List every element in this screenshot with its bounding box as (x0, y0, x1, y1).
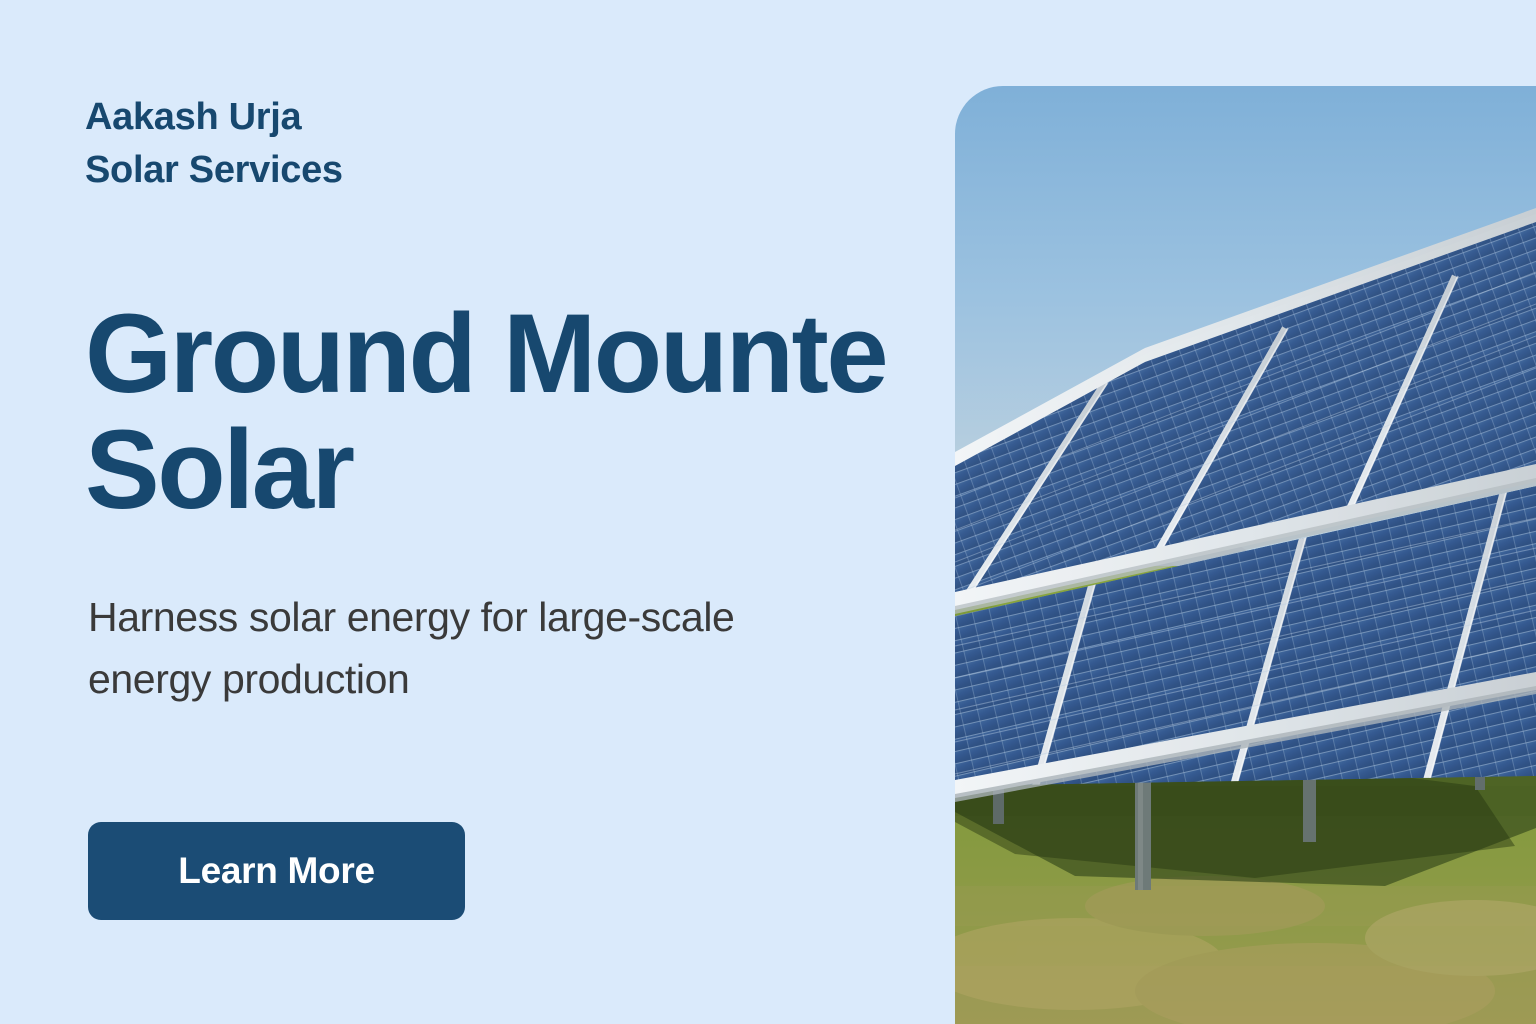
brand-line-2: Solar Services (85, 144, 343, 197)
subtitle-line-1: Harness solar energy for large-scale (88, 586, 888, 648)
solar-farm-illustration (955, 86, 1536, 1024)
subtitle: Harness solar energy for large-scale ene… (88, 586, 888, 710)
brand-name: Aakash Urja Solar Services (85, 91, 343, 197)
subtitle-line-2: energy production (88, 648, 888, 710)
solar-panel-photo (955, 86, 1536, 1024)
page-title: Ground Mounte Solar (85, 296, 945, 528)
headline-line-2: Solar (85, 412, 945, 528)
learn-more-button[interactable]: Learn More (88, 822, 465, 920)
brand-line-1: Aakash Urja (85, 91, 343, 144)
banner-content-column: Aakash Urja Solar Services Ground Mounte… (0, 0, 955, 1024)
headline-line-1: Ground Mounte (85, 296, 945, 412)
solar-services-banner: Aakash Urja Solar Services Ground Mounte… (0, 0, 1536, 1024)
